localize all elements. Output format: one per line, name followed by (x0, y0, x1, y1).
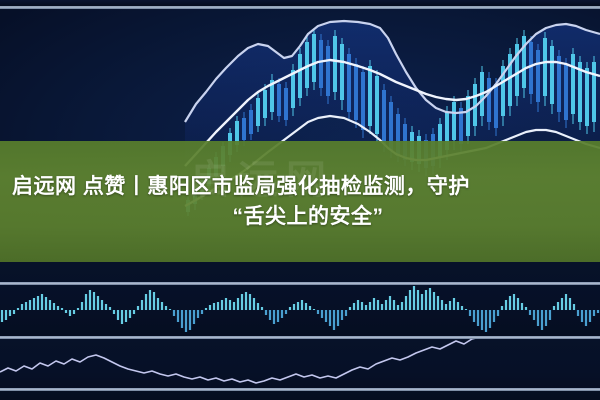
indicator-line (0, 329, 600, 383)
chart-banner-image: 启远网 启远网 点赞丨惠阳区市监局强化抽检监测，守护 “舌尖上的安全” (0, 0, 600, 400)
macd-histogram (2, 286, 598, 332)
indicator-layers (0, 0, 600, 400)
